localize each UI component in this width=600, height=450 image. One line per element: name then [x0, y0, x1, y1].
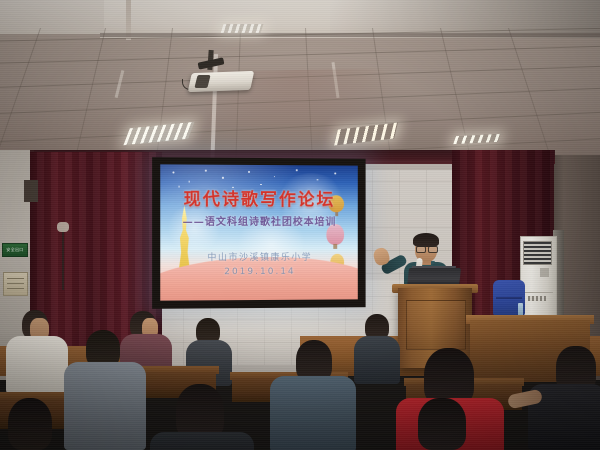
projection-screen[interactable]: 现代诗歌写作论坛 ——语文科组诗歌社团校本培训 中山市沙溪镇康乐小学 2019.… — [152, 157, 366, 309]
glasses-icon — [416, 246, 426, 253]
slide-organization: 中山市沙溪镇康乐小学 — [160, 254, 358, 264]
slide-title: 现代诗歌写作论坛 — [160, 192, 358, 210]
slide-canvas: 现代诗歌写作论坛 ——语文科组诗歌社团校本培训 中山市沙溪镇康乐小学 2019.… — [160, 164, 358, 300]
ac-badge — [540, 268, 549, 277]
ceiling-light-icon — [221, 24, 264, 33]
ac-vent-icon — [528, 296, 546, 301]
exit-sign: 安全出口 — [2, 243, 28, 257]
speaker-hair — [413, 233, 439, 247]
podium-front-panel — [406, 300, 466, 350]
ac-grille-icon — [523, 241, 552, 265]
slide-subtitle: ——语文科组诗歌社团校本培训 — [160, 217, 358, 227]
microphone-stand — [62, 228, 64, 290]
wall-mounted-box — [24, 180, 38, 202]
lecture-hall-photo: 安全出口 — [0, 0, 600, 450]
glasses-icon — [428, 246, 438, 253]
ac-seam — [522, 292, 553, 293]
microphone-stand-head — [57, 222, 69, 232]
slide-cloud — [164, 205, 224, 251]
slide-date: 2019.10.14 — [160, 267, 358, 277]
exit-sign-label: 安全出口 — [6, 248, 23, 252]
wall-notice-panel — [3, 272, 28, 296]
